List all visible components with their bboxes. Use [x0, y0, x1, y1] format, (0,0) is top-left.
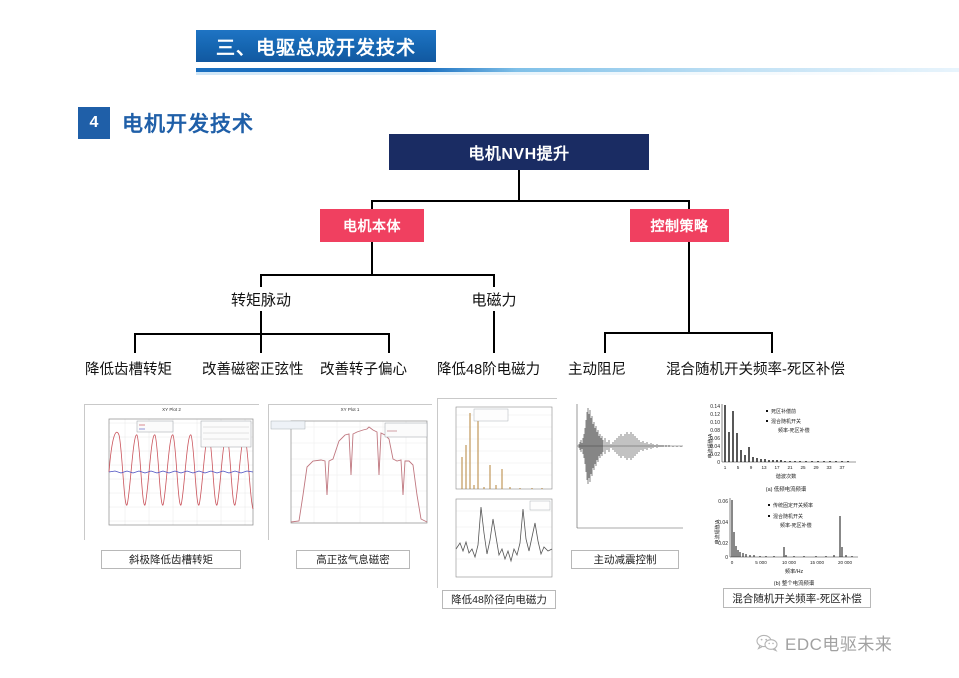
connector-control-leaf-bus	[604, 332, 773, 334]
connector-motor-body-stem	[371, 242, 373, 275]
svg-text:25: 25	[800, 465, 806, 470]
tree-leaf-improve-rotor-eccentricity: 改善转子偏心	[320, 358, 407, 379]
figure-airgap-flux: XY Plot 1	[268, 404, 432, 540]
svg-text:传统固定开关频率: 传统固定开关频率	[773, 502, 813, 509]
svg-text:37: 37	[839, 465, 845, 470]
svg-text:0.12: 0.12	[710, 412, 720, 418]
figure-2-plot-title: XY Plot 1	[269, 407, 431, 412]
tree-leaf-improve-flux-sinusoidality: 改善磁密正弦性	[202, 358, 304, 379]
connector-emforce-to-leaf-3	[493, 311, 495, 353]
figure-cogging-torque: XY Plot 2	[84, 404, 259, 540]
tree-node-root-label: 电机NVH提升	[468, 140, 569, 164]
figure-1-svg	[85, 405, 260, 541]
connector-to-emforce	[493, 274, 495, 287]
svg-text:0: 0	[725, 555, 728, 561]
watermark: EDC电驱未来	[756, 630, 892, 655]
nvh-tree-diagram: 电机NVH提升 电机本体 控制策略 转矩脉动 电磁力 降低齿槽转矩 改善磁密正弦…	[0, 0, 959, 400]
connector-to-leaf-0	[134, 333, 136, 353]
svg-text:电流幅值/A: 电流幅值/A	[714, 519, 721, 544]
svg-text:0.10: 0.10	[710, 420, 720, 426]
connector-level3-bus	[260, 274, 494, 276]
svg-text:1: 1	[724, 465, 727, 470]
svg-text:20 000: 20 000	[838, 560, 852, 565]
connector-to-torque-ripple	[260, 274, 262, 287]
svg-text:5 000: 5 000	[755, 560, 767, 565]
connector-to-leaf-2	[388, 333, 390, 353]
tree-node-torque-ripple-label: 转矩脉动	[231, 289, 291, 310]
tree-leaf-reduce-cogging-torque: 降低齿槽转矩	[85, 358, 172, 379]
svg-text:21: 21	[787, 465, 793, 470]
tree-node-control-strategy: 控制策略	[630, 209, 729, 242]
svg-text:死区补偿前: 死区补偿前	[771, 408, 796, 415]
figure-active-damping	[563, 398, 688, 538]
svg-text:电流幅值/A: 电流幅值/A	[707, 433, 714, 458]
svg-text:29: 29	[813, 465, 819, 470]
connector-torque-ripple-stem	[260, 311, 262, 334]
figure-4-caption: 主动减震控制	[571, 550, 679, 569]
connector-level2-bus	[371, 200, 689, 202]
svg-text:0.08: 0.08	[710, 428, 720, 434]
svg-text:15 000: 15 000	[810, 560, 824, 565]
figure-low-freq-current-spectrum: 0.14 0.12 0.10 0.08 0.06 0.04 0.02 0 电流幅…	[706, 398, 882, 498]
watermark-text: EDC电驱未来	[785, 630, 892, 655]
svg-text:0: 0	[717, 460, 720, 466]
figure-5a-svg: 0.14 0.12 0.10 0.08 0.06 0.04 0.02 0 电流幅…	[706, 398, 882, 498]
svg-text:混合随机开关: 混合随机开关	[773, 513, 803, 520]
tree-node-root: 电机NVH提升	[389, 134, 649, 170]
tree-node-motor-body-label: 电机本体	[343, 216, 401, 236]
tree-node-electromagnetic-force: 电磁力	[455, 288, 533, 310]
figure-radial-force	[437, 398, 557, 588]
svg-text:谐波次数: 谐波次数	[776, 472, 798, 480]
connector-root-stem	[518, 170, 520, 202]
svg-text:10 000: 10 000	[782, 560, 796, 565]
tree-node-control-strategy-label: 控制策略	[651, 216, 709, 236]
svg-text:13: 13	[761, 465, 767, 470]
connector-to-leaf-5	[771, 332, 773, 353]
figure-2-svg	[269, 405, 433, 541]
svg-text:17: 17	[774, 465, 780, 470]
svg-text:0.06: 0.06	[718, 499, 728, 505]
figure-1-caption: 斜极降低齿槽转矩	[101, 550, 241, 569]
svg-text:33: 33	[826, 465, 832, 470]
tree-leaf-hybrid-random-switching: 混合随机开关频率-死区补偿	[666, 358, 845, 379]
figure-4-svg	[563, 398, 688, 538]
svg-text:0.14: 0.14	[710, 404, 720, 410]
wechat-icon	[756, 634, 778, 652]
svg-text:频率/Hz: 频率/Hz	[785, 567, 804, 575]
figure-5b-svg: 0.06 0.04 0.02 0 电流幅值/A	[706, 492, 882, 588]
svg-text:频率-死区补偿: 频率-死区补偿	[778, 427, 810, 434]
svg-text:频率-死区补偿: 频率-死区补偿	[780, 522, 812, 529]
tree-node-motor-body: 电机本体	[320, 209, 424, 242]
figure-1-plot-title: XY Plot 2	[85, 407, 258, 412]
svg-text:混合随机开关: 混合随机开关	[771, 418, 801, 425]
svg-text:(b) 整个电流频谱: (b) 整个电流频谱	[774, 579, 815, 587]
tree-node-electromagnetic-force-label: 电磁力	[471, 289, 516, 310]
tree-leaf-reduce-48th-order-force: 降低48阶电磁力	[437, 358, 540, 379]
figure-3-svg	[438, 399, 558, 589]
connector-control-strategy-stem	[688, 242, 690, 334]
tree-leaf-active-damping: 主动阻尼	[568, 358, 626, 379]
svg-text:5: 5	[737, 465, 740, 470]
tree-node-torque-ripple: 转矩脉动	[213, 288, 309, 310]
svg-text:9: 9	[750, 465, 753, 470]
connector-to-leaf-1	[260, 333, 262, 353]
connector-to-leaf-4	[604, 332, 606, 353]
figure-5-caption: 混合随机开关频率-死区补偿	[723, 588, 871, 608]
figure-full-current-spectrum: 0.06 0.04 0.02 0 电流幅值/A	[706, 492, 882, 588]
figure-2-caption: 高正弦气息磁密	[296, 550, 410, 569]
figure-3-caption: 降低48阶径向电磁力	[442, 590, 556, 609]
svg-text:0: 0	[731, 560, 734, 565]
